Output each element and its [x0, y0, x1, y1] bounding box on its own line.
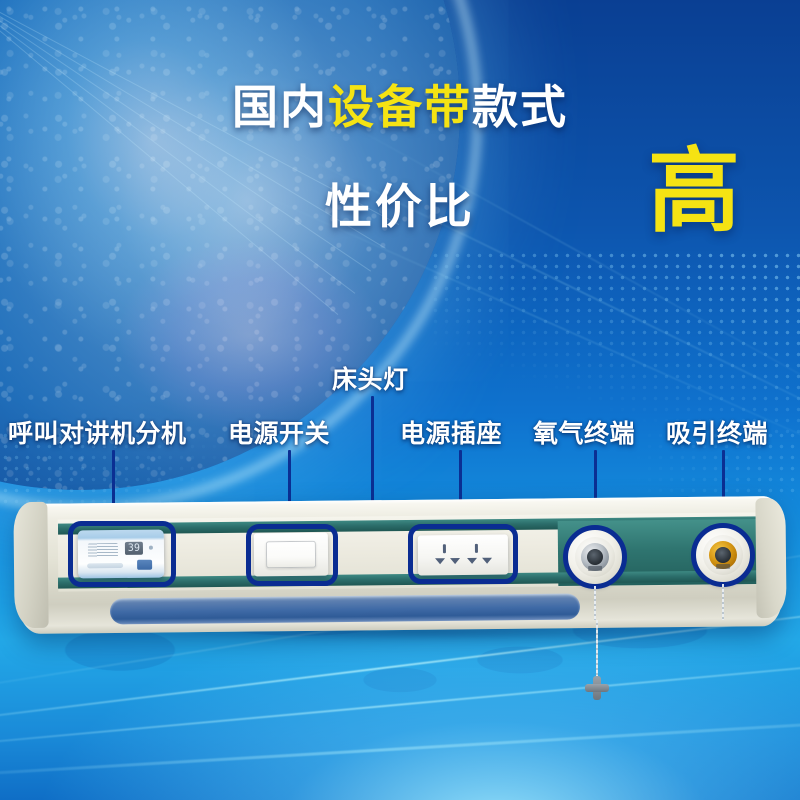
headline-highlight: 设备带: [328, 81, 472, 133]
pull-cord[interactable]: [596, 620, 598, 682]
panel-end-cap-left: [13, 502, 48, 628]
panel-equipment-rail: [110, 594, 580, 625]
promo-banner: 国内设备带款式 性价比 高 呼叫对讲机分机 电源开关 床头灯 电源插座 氧气终端…: [0, 0, 800, 800]
headline: 国内设备带款式: [0, 84, 800, 130]
halftone-dots: [430, 250, 800, 440]
callout-power-switch-label: 电源开关: [228, 414, 330, 450]
panel-end-cap-right: [755, 498, 786, 618]
callout-oxygen-terminal-label: 氧气终端: [533, 414, 635, 450]
highlight-box-power-switch: [246, 524, 338, 586]
highlight-circle-suction: [691, 523, 755, 587]
highlight-circle-oxygen: [563, 525, 627, 589]
headline-part1: 国内: [232, 81, 328, 133]
highlight-box-power-socket: [408, 524, 518, 584]
oxygen-cord: [594, 586, 596, 620]
callout-suction-terminal-label: 吸引终端: [666, 414, 768, 450]
callout-bed-lamp-label: 床头灯: [332, 360, 409, 396]
highlight-box-intercom: [68, 521, 176, 587]
headline-big-char: 高: [648, 146, 740, 238]
pull-cord-handle[interactable]: [585, 676, 609, 700]
callout-intercom-label: 呼叫对讲机分机: [8, 414, 187, 450]
headline-part2: 款式: [472, 81, 568, 133]
suction-cord-upper: [722, 584, 724, 620]
callout-power-socket-label: 电源插座: [400, 414, 502, 450]
